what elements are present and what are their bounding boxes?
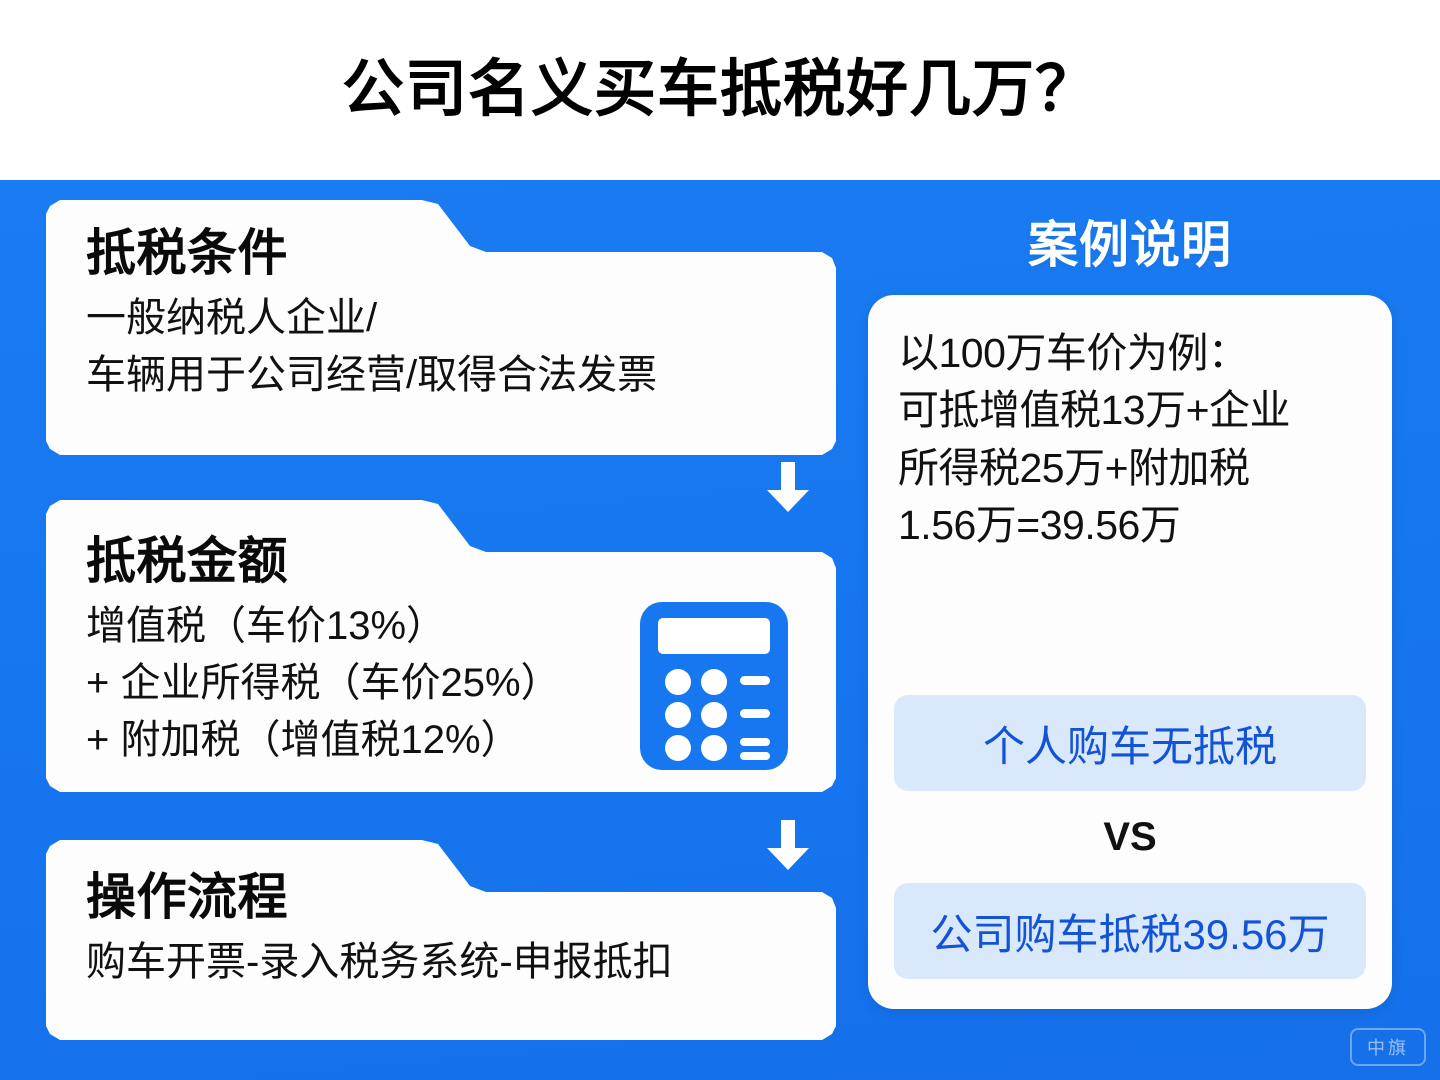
card-title: 抵税金额 xyxy=(86,534,802,588)
case-line: 所得税25万+附加税 xyxy=(898,440,1366,497)
card-content: 抵税条件 一般纳税人企业/ 车辆用于公司经营/取得合法发票 xyxy=(46,200,836,432)
card-title: 操作流程 xyxy=(86,870,802,924)
card-body-line: 车辆用于公司经营/取得合法发票 xyxy=(86,347,802,404)
card-operation-process: 操作流程 购车开票-录入税务系统-申报抵扣 xyxy=(46,840,836,1040)
card-content: 操作流程 购车开票-录入税务系统-申报抵扣 xyxy=(46,840,836,1019)
left-column: 抵税条件 一般纳税人企业/ 车辆用于公司经营/取得合法发票 抵税金额 增值税（车… xyxy=(46,200,836,1050)
card-tax-amount: 抵税金额 增值税（车价13%） + 企业所得税（车价25%） + 附加税（增值税… xyxy=(46,500,836,792)
card-body-line: 购车开票-录入税务系统-申报抵扣 xyxy=(86,934,802,991)
calculator-icon xyxy=(640,602,788,770)
page-title: 公司名义买车抵税好几万？ xyxy=(342,56,1098,124)
case-card: 以100万车价为例： 可抵增值税13万+企业 所得税25万+附加税 1.56万=… xyxy=(868,295,1392,1009)
watermark: 中旗 xyxy=(1350,1028,1426,1066)
comparison-option-personal: 个人购车无抵税 xyxy=(894,695,1366,791)
case-line: 1.56万=39.56万 xyxy=(898,497,1366,554)
comparison-block: 个人购车无抵税 VS 公司购车抵税39.56万 xyxy=(894,695,1366,979)
case-line: 可抵增值税13万+企业 xyxy=(898,382,1366,439)
arrow-down-icon xyxy=(765,820,811,870)
title-band: 公司名义买车抵税好几万？ xyxy=(0,0,1440,180)
case-section-heading: 案例说明 xyxy=(868,218,1392,273)
right-column: 案例说明 以100万车价为例： 可抵增值税13万+企业 所得税25万+附加税 1… xyxy=(868,200,1392,1009)
card-tax-conditions: 抵税条件 一般纳税人企业/ 车辆用于公司经营/取得合法发票 xyxy=(46,200,836,455)
case-line: 以100万车价为例： xyxy=(898,325,1366,382)
card-body-line: 一般纳税人企业/ xyxy=(86,290,802,347)
comparison-option-company: 公司购车抵税39.56万 xyxy=(894,883,1366,979)
infographic-page: 公司名义买车抵税好几万？ 抵税条件 一般纳税人企业/ 车辆用于公司经营/取得合法… xyxy=(0,0,1440,1080)
card-title: 抵税条件 xyxy=(86,226,802,280)
comparison-separator: VS xyxy=(894,791,1366,883)
arrow-down-icon xyxy=(765,462,811,512)
